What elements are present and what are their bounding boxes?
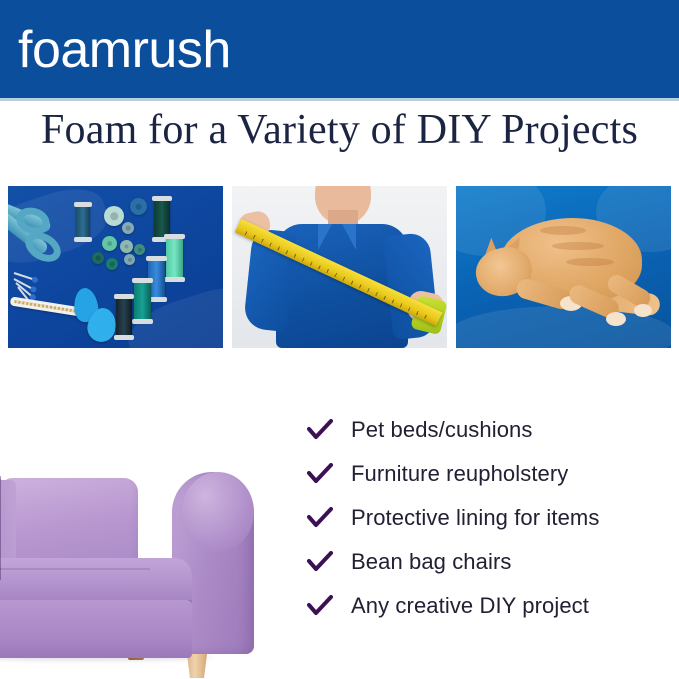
sewing-supplies-photo <box>8 186 223 348</box>
list-item-label: Bean bag chairs <box>351 549 512 575</box>
list-item: Bean bag chairs <box>305 542 675 582</box>
banner-underline <box>0 98 679 101</box>
list-item: Furniture reupholstery <box>305 454 675 494</box>
page-title: Foam for a Variety of DIY Projects <box>0 106 679 154</box>
check-icon <box>305 507 335 529</box>
list-item: Protective lining for items <box>305 498 675 538</box>
brand-logo[interactable]: foamrush <box>18 24 231 76</box>
product-infographic: foamrush Foam for a Variety of DIY Proje… <box>0 0 679 679</box>
check-icon <box>305 419 335 441</box>
list-item-label: Any creative DIY project <box>351 593 589 619</box>
cat-on-bed-photo <box>456 186 671 348</box>
photo-strip <box>8 186 671 348</box>
brand-banner: foamrush <box>0 0 679 98</box>
check-icon <box>305 463 335 485</box>
benefits-list: Pet beds/cushions Furniture reupholstery… <box>305 410 675 630</box>
list-item-label: Furniture reupholstery <box>351 461 568 487</box>
list-item: Any creative DIY project <box>305 586 675 626</box>
list-item-label: Protective lining for items <box>351 505 599 531</box>
tape-measure-photo <box>232 186 447 348</box>
check-icon <box>305 595 335 617</box>
check-icon <box>305 551 335 573</box>
list-item: Pet beds/cushions <box>305 410 675 450</box>
lavender-sofa-illustration <box>0 450 254 679</box>
list-item-label: Pet beds/cushions <box>351 417 532 443</box>
